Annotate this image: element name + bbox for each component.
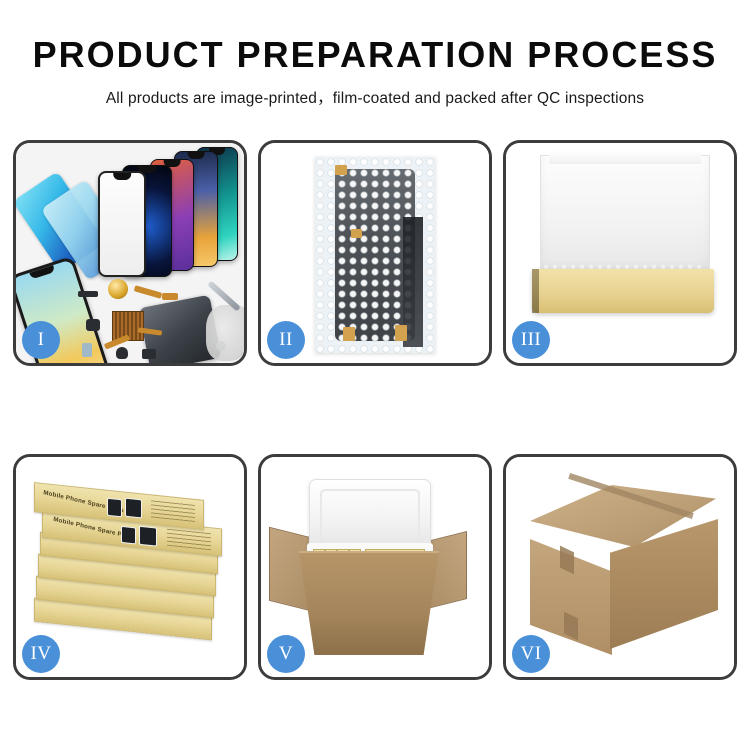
- tape-piece-2-icon: [351, 229, 362, 238]
- box-spec-lines-2: [167, 529, 211, 551]
- process-step-card-5[interactable]: V: [258, 454, 492, 680]
- small-part-5-icon: [142, 349, 156, 359]
- process-step-card-6[interactable]: VI: [503, 454, 737, 680]
- small-part-6-icon: [162, 293, 178, 300]
- page-subtitle: All products are image-printed，film-coat…: [0, 86, 750, 108]
- process-step-card-2[interactable]: II: [258, 140, 492, 366]
- step-badge-6: VI: [512, 635, 550, 673]
- box-phone-graphic-1: [107, 498, 122, 518]
- phone-screen-1-icon: [98, 171, 146, 277]
- process-step-card-4[interactable]: Mobile Phone Spare Parts Mobile Phone Sp…: [13, 454, 247, 680]
- process-step-card-3[interactable]: III: [503, 140, 737, 366]
- foam-lid-icon: [309, 479, 431, 553]
- step-badge-2: II: [267, 321, 305, 359]
- step-badge-1: I: [22, 321, 60, 359]
- small-part-3-icon: [82, 343, 92, 357]
- step-badge-4: IV: [22, 635, 60, 673]
- carton-body-icon: [299, 551, 439, 655]
- step-badge-3: III: [512, 321, 550, 359]
- box-phone-graphic-4: [139, 526, 157, 547]
- flex-cable-1-icon: [134, 285, 163, 298]
- speaker-module-icon: [108, 279, 128, 299]
- retail-box-stack-icon: Mobile Phone Spare Parts Mobile Phone Sp…: [30, 479, 230, 661]
- small-part-4-icon: [116, 347, 128, 359]
- tape-piece-1-icon: [335, 165, 347, 175]
- tape-piece-3-icon: [343, 327, 355, 341]
- bubble-wrap-bag-icon: [315, 157, 435, 353]
- small-part-2-icon: [86, 319, 100, 331]
- box-phone-graphic-3: [121, 526, 136, 545]
- box-phone-graphic-2: [125, 498, 142, 519]
- white-box-lid-icon: [540, 155, 710, 275]
- box-spec-lines-1: [151, 499, 195, 522]
- tape-piece-4-icon: [395, 325, 407, 341]
- page-title: PRODUCT PREPARATION PROCESS: [0, 36, 750, 74]
- step-badge-5: V: [267, 635, 305, 673]
- page-header: PRODUCT PREPARATION PROCESS All products…: [0, 0, 750, 108]
- small-part-1-icon: [78, 291, 98, 297]
- process-step-grid: I II III: [13, 140, 737, 680]
- hand-icon: [206, 305, 244, 361]
- process-step-card-1[interactable]: I: [13, 140, 247, 366]
- yellow-box-tray-icon: [532, 269, 714, 313]
